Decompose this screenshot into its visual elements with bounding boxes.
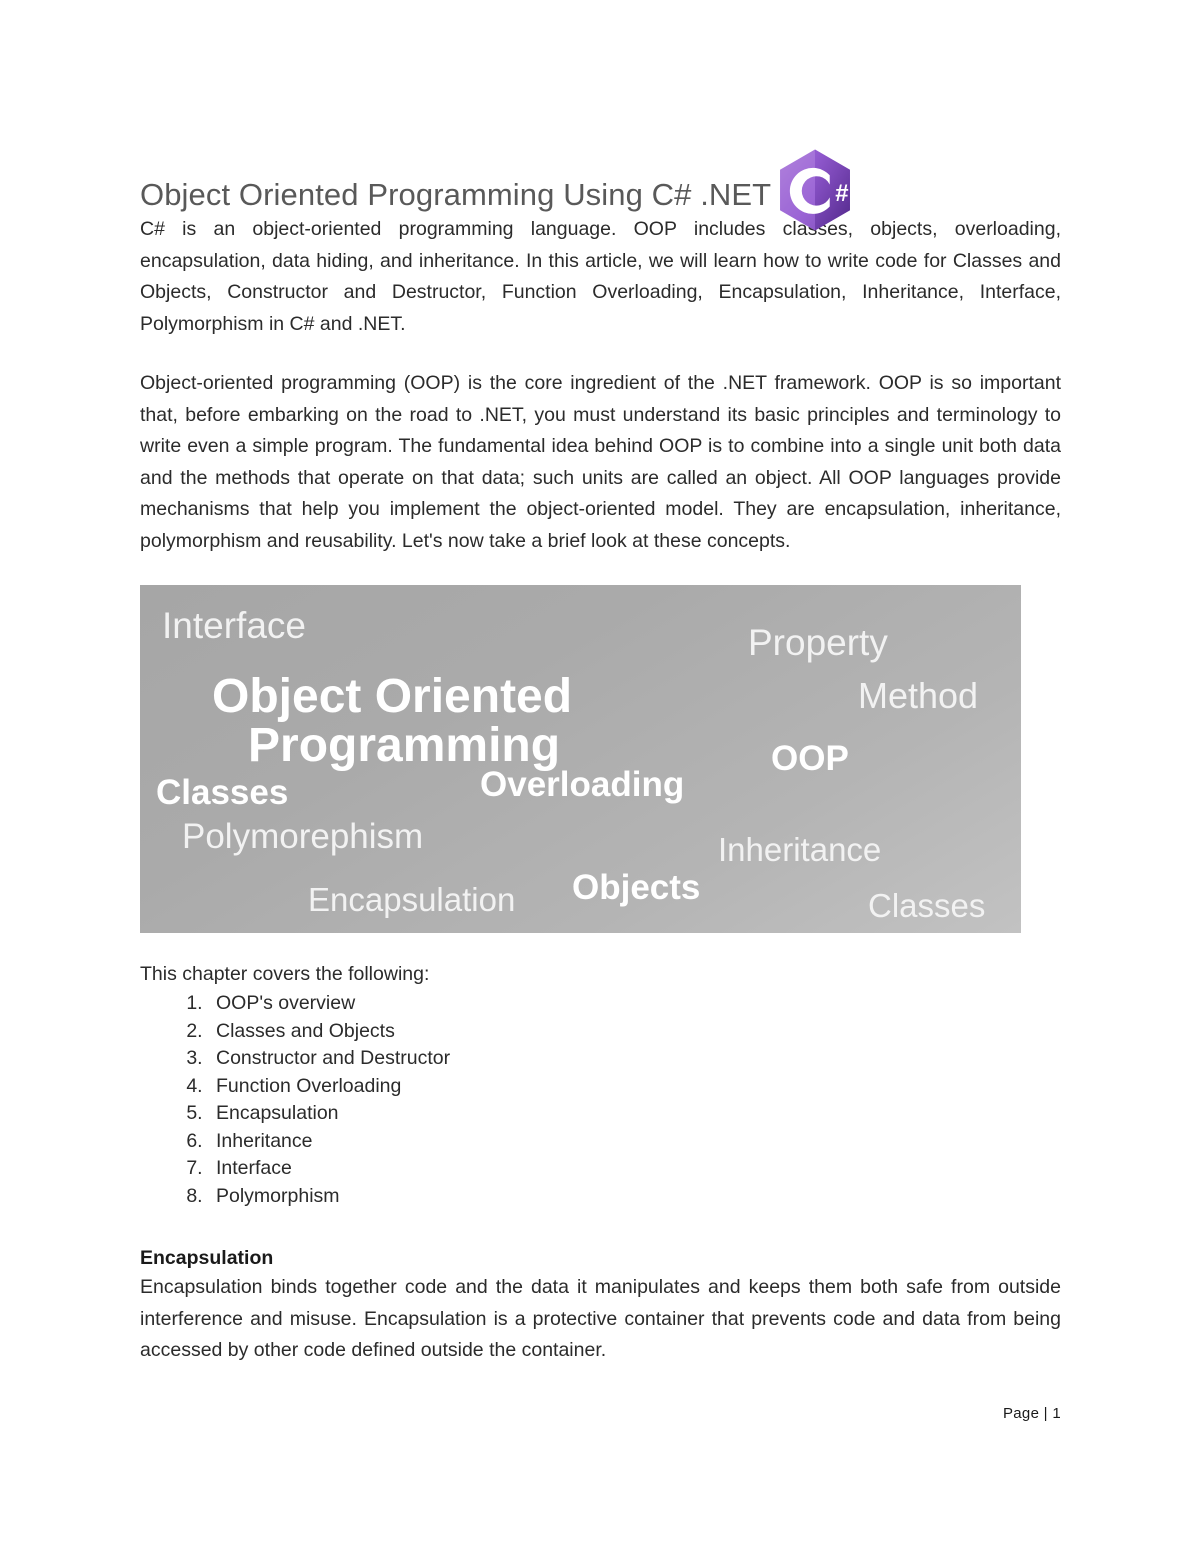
chapter-list-item: Function Overloading (208, 1073, 1061, 1101)
page-footer: Page | 1 (1003, 1405, 1061, 1422)
intro-paragraph-2: Object-oriented programming (OOP) is the… (140, 368, 1061, 557)
word-cloud-term: Object Oriented (212, 673, 572, 721)
paragraph-spacer (140, 340, 1061, 368)
intro-paragraph-1: C# is an object-oriented programming lan… (140, 214, 1061, 340)
title-row: Object Oriented Programming Using C# .NE… (140, 152, 1061, 214)
word-cloud-term: Encapsulation (308, 883, 515, 916)
word-cloud-term: Property (748, 624, 888, 661)
section-heading-encapsulation: Encapsulation (140, 1244, 1061, 1272)
word-cloud-term: OOP (771, 741, 849, 776)
word-cloud-term: Method (858, 678, 978, 714)
oop-word-cloud-figure: InterfacePropertyObject OrientedMethodPr… (140, 585, 1021, 933)
chapter-list-item: Inheritance (208, 1128, 1061, 1156)
chapter-list-item: Polymorphism (208, 1183, 1061, 1211)
word-cloud-term: Classes (156, 775, 288, 810)
chapter-list-item: Classes and Objects (208, 1018, 1061, 1046)
word-cloud-term: Objects (572, 870, 700, 905)
word-cloud-term: Classes (868, 889, 985, 922)
covers-intro-line: This chapter covers the following: (140, 959, 1061, 990)
word-cloud-term: Overloading (480, 767, 684, 802)
chapter-list: OOP's overviewClasses and ObjectsConstru… (140, 990, 1061, 1210)
document-page: Object Oriented Programming Using C# .NE… (0, 0, 1200, 1553)
word-cloud-term: Inheritance (718, 833, 881, 866)
page-title: Object Oriented Programming Using C# .NE… (140, 175, 771, 215)
section-body-encapsulation: Encapsulation binds together code and th… (140, 1272, 1061, 1367)
chapter-list-item: Encapsulation (208, 1100, 1061, 1128)
chapter-list-item: OOP's overview (208, 990, 1061, 1018)
csharp-logo-icon: # (769, 144, 861, 236)
word-cloud-term: Interface (162, 607, 306, 644)
chapter-list-item: Constructor and Destructor (208, 1045, 1061, 1073)
svg-text:#: # (835, 180, 848, 207)
word-cloud-term: Programming (248, 722, 560, 770)
word-cloud-term: Polymorephism (182, 819, 423, 854)
chapter-list-item: Interface (208, 1155, 1061, 1183)
page-content: Object Oriented Programming Using C# .NE… (140, 0, 1061, 1367)
